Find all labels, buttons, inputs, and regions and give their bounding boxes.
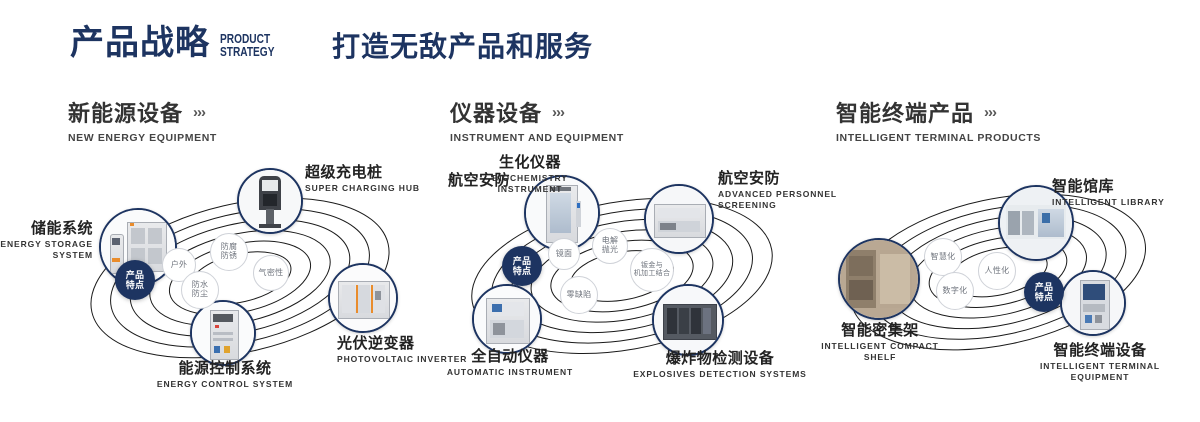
label-biochemistry-instrument: 生化仪器 BIOCHEMISTRY INSTRUMENT <box>460 154 600 195</box>
chevron-right-icon: ››› <box>193 104 205 121</box>
chevron-right-icon: ››› <box>552 104 564 121</box>
node-automatic-instrument[interactable] <box>472 284 542 354</box>
feature-bubble-zero-defect: 零缺陷 <box>560 276 598 314</box>
cluster-new-energy: 储能系统 ENERGY STORAGE SYSTEM 超级充电桩 SUPER C… <box>55 160 425 390</box>
node-super-charging-hub[interactable] <box>237 168 303 234</box>
section-title-en: INTELLIGENT TERMINAL PRODUCTS <box>836 132 1041 144</box>
feature-bubble-electropolishing: 电解 抛光 <box>592 228 628 264</box>
feature-bubble-sheetmetal-machining: 钣金与 机加工结合 <box>630 248 674 292</box>
label-automatic-instrument: 全自动仪器 AUTOMATIC INSTRUMENT <box>420 348 600 378</box>
section-title-intelligent-terminal: 智能终端产品 ››› INTELLIGENT TERMINAL PRODUCTS <box>836 96 1041 144</box>
node-advanced-personnel-screening[interactable] <box>644 184 714 254</box>
page-title-en: PRODUCT STRATEGY <box>220 32 274 58</box>
feature-bubble-mirror-finish: 镜面 <box>548 238 580 270</box>
core-bubble-product-features: 产品 特点 <box>502 246 542 286</box>
feature-bubble-anticorrosion: 防腐 防锈 <box>210 233 248 271</box>
section-title-cn: 仪器设备 <box>450 96 542 128</box>
section-title-en: INSTRUMENT AND EQUIPMENT <box>450 132 624 144</box>
core-bubble-product-features: 产品 特点 <box>1024 272 1064 312</box>
cluster-intelligent-terminal: 智能馆库 INTELLIGENT LIBRARY 智能密集架 INTELLIGE… <box>820 160 1190 390</box>
page-subtitle: 打造无敌产品和服务 <box>332 32 593 63</box>
label-energy-control-system: 能源控制系统 ENERGY CONTROL SYSTEM <box>100 360 350 390</box>
node-intelligent-compact-shelf[interactable] <box>838 238 920 320</box>
node-explosives-detection-systems[interactable] <box>652 284 724 356</box>
label-intelligent-compact-shelf: 智能密集架 INTELLIGENT COMPACT SHELF <box>810 322 950 363</box>
feature-bubble-digital: 数字化 <box>936 272 974 310</box>
section-title-cn: 新能源设备 <box>68 96 183 128</box>
feature-bubble-intelligent: 智慧化 <box>924 238 962 276</box>
page-title: 产品战略 <box>70 26 210 60</box>
section-title-new-energy: 新能源设备 ››› NEW ENERGY EQUIPMENT <box>68 96 217 144</box>
chevron-right-icon: ››› <box>984 104 996 121</box>
section-title-en: NEW ENERGY EQUIPMENT <box>68 132 217 144</box>
node-energy-control-system[interactable] <box>190 300 256 366</box>
section-title-cn: 智能终端产品 <box>836 96 974 128</box>
label-energy-storage-system: 储能系统 ENERGY STORAGE SYSTEM <box>0 220 93 261</box>
feature-bubble-waterproof: 防水 防尘 <box>181 271 219 309</box>
node-intelligent-terminal-equipment[interactable] <box>1060 270 1126 336</box>
feature-bubble-humanized: 人性化 <box>978 252 1016 290</box>
feature-bubble-airtightness: 气密性 <box>253 255 289 291</box>
label-intelligent-terminal-equipment: 智能终端设备 INTELLIGENT TERMINAL EQUIPMENT <box>1010 342 1190 383</box>
cluster-instrument: 航空安防 生化仪器 BIOCHEMISTRY INSTRUMENT 航空安防 A… <box>440 160 810 390</box>
node-photovoltaic-inverter[interactable] <box>328 263 398 333</box>
label-explosives-detection-systems: 爆炸物检测设备 EXPLOSIVES DETECTION SYSTEMS <box>620 350 820 380</box>
page-header: 产品战略 PRODUCT STRATEGY <box>70 26 290 60</box>
section-title-instrument: 仪器设备 ››› INSTRUMENT AND EQUIPMENT <box>450 96 624 144</box>
core-bubble-product-features: 产品 特点 <box>115 260 155 300</box>
poster-canvas: 产品战略 PRODUCT STRATEGY 打造无敌产品和服务 新能源设备 ››… <box>0 0 1200 422</box>
label-intelligent-library: 智能馆库 INTELLIGENT LIBRARY <box>1052 178 1200 208</box>
